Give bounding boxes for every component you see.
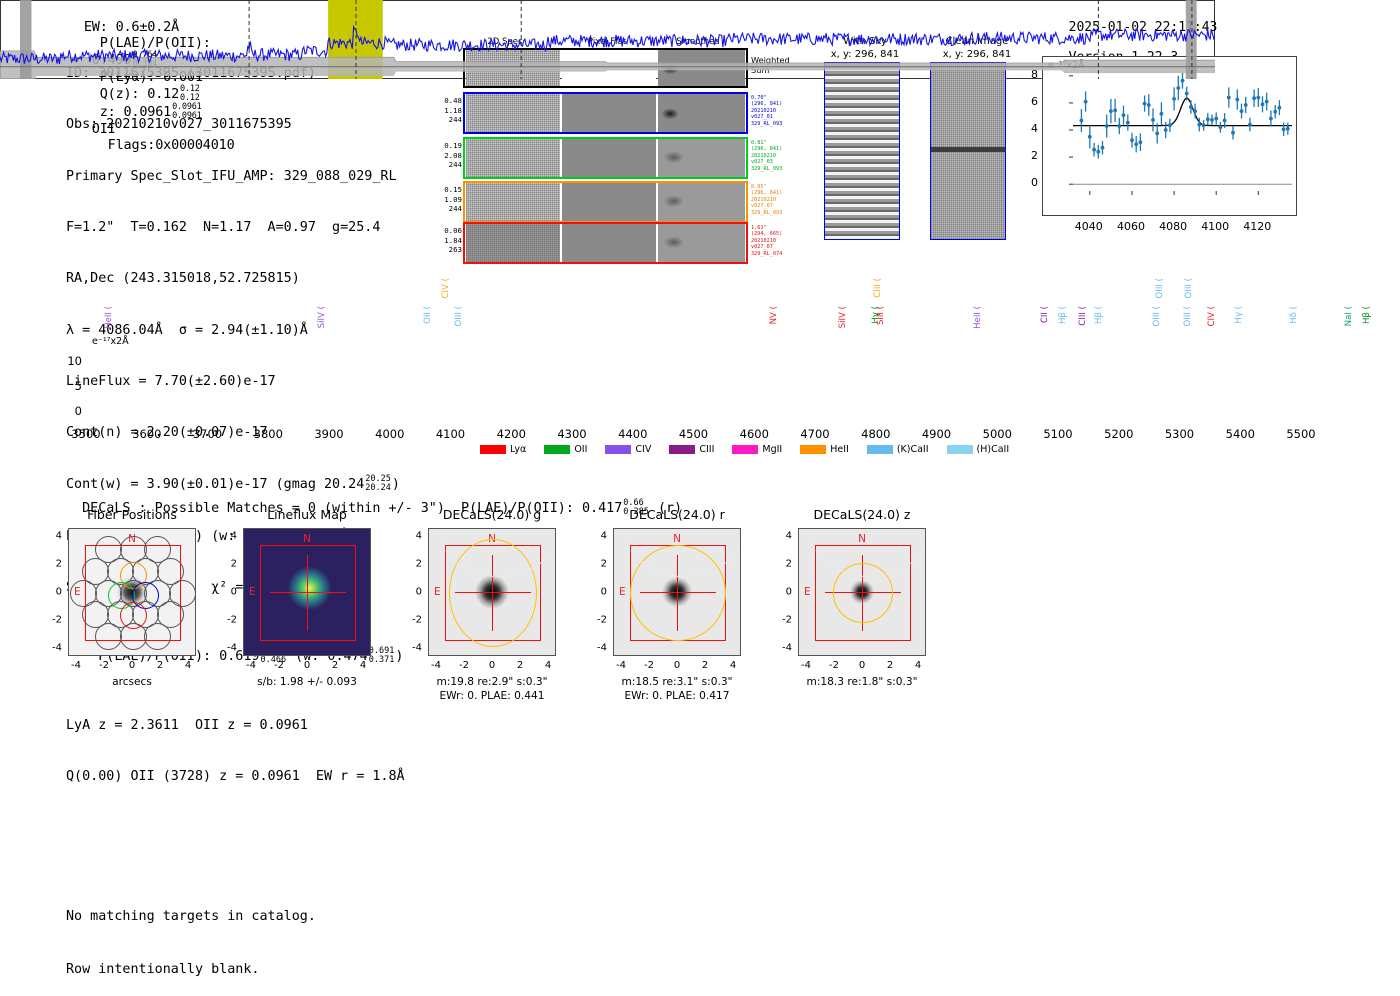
info-redshifts: LyA z = 2.3611 OII z = 0.0961 (66, 717, 405, 734)
cutout-xlabel-0: arcsecs (32, 676, 232, 688)
emission-label: Hγ ( (1234, 306, 1244, 324)
cutout-title-1: Lineflux Map (227, 507, 387, 522)
legend-swatch (544, 445, 570, 454)
legend-label: CIV (635, 444, 651, 455)
spectrum-xtick: 4700 (800, 427, 829, 441)
info-qline: Q(0.00) OII (3728) z = 0.0961 EW r = 1.8… (66, 768, 405, 785)
emission-label: HeII ( (104, 306, 114, 329)
cutout-xtick: 4 (360, 660, 366, 671)
spectrum-ytick: 0 (58, 404, 82, 418)
info-obs: Obs: 20210210v027_3011675395 (66, 116, 405, 133)
emission-label: OIII ( (1152, 306, 1162, 326)
cutout-ytick: -2 (402, 615, 422, 626)
fiber-2-meta: 0.81" (296, 841) 20210210 v027_03 329_RL… (751, 140, 782, 172)
emission-label: OII ( (423, 306, 433, 324)
info-cont-n: Cont(n) = 2.20(±0.07)e-17 (66, 424, 405, 441)
fit-ytick: 6 (1016, 95, 1038, 108)
spectrum-xtick: 4000 (375, 427, 404, 441)
fiber-1-meta: 0.70" (296, 841) 20210210 v027_01 329_RL… (751, 95, 782, 127)
cutout-title-2: DECaLS(24.0) g (412, 507, 572, 522)
fit-xtick: 4100 (1197, 220, 1233, 233)
cutout-ytick: 4 (772, 531, 792, 542)
spectrum-xtick: 4600 (740, 427, 769, 441)
emission-label: CII ( (1040, 306, 1050, 323)
crosshair-v (307, 555, 308, 631)
cutout-ytick: 2 (772, 559, 792, 570)
bottom-note-line1: No matching targets in catalog. (66, 908, 316, 926)
spectrum-ytick: 10 (58, 354, 82, 368)
cutout-xtick: -2 (459, 660, 469, 671)
cutout-ytick: 4 (217, 531, 237, 542)
fiber-2-numbers: 0.19 2.08 244 (438, 141, 462, 170)
legend-swatch (800, 445, 826, 454)
legend-entry: OII (544, 444, 587, 455)
fit-xtick: 4120 (1239, 220, 1275, 233)
legend-entry: CIII (669, 444, 714, 455)
legend-swatch (605, 445, 631, 454)
cutout-xtick: -4 (246, 660, 256, 671)
spectrum-xtick: 5200 (1104, 427, 1133, 441)
cutout-xtick: -4 (431, 660, 441, 671)
cutout-ytick: -4 (587, 643, 607, 654)
fiber-row-3 (463, 181, 748, 223)
cutout-ytick: 2 (217, 559, 237, 570)
legend-entry: (K)CaII (867, 444, 929, 455)
cutout-xtick: -2 (99, 660, 109, 671)
emission-label: Hβ ( (1058, 306, 1068, 324)
bottom-note-line2: Row intentionally blank. (66, 961, 316, 979)
emission-label: OIII ( (1183, 306, 1193, 326)
cutout-ytick: -2 (217, 615, 237, 626)
cutout-ytick: 0 (772, 587, 792, 598)
emission-label: CIV ( (441, 278, 451, 299)
cutout-image-1[interactable]: NE (243, 528, 371, 656)
cutout-xtick: -2 (829, 660, 839, 671)
emission-label: Hδ ( (1289, 306, 1299, 324)
cutout-caption1-3: m:18.5 re:3.1" s:0.3" (577, 676, 777, 688)
emission-label: OIII ( (1184, 278, 1194, 298)
legend-label: CIII (699, 444, 714, 455)
cutout-caption2-2: EWr: 0. PLAE: 0.441 (392, 690, 592, 702)
cutout-image-0[interactable]: NE (68, 528, 196, 656)
emission-label: CIII ( (1078, 306, 1088, 326)
legend-entry: HeII (800, 444, 849, 455)
spectrum-xtick: 4200 (497, 427, 526, 441)
cutout-xtick: 0 (489, 660, 495, 671)
fiber-1-numbers: 0.48 1.18 244 (438, 96, 462, 125)
cutout-ytick: 0 (587, 587, 607, 598)
spectrum-xtick: 4100 (436, 427, 465, 441)
emission-label: Hβ ( (1094, 306, 1104, 324)
fit-xtick: 4080 (1155, 220, 1191, 233)
emission-label: CIV ( (1207, 306, 1217, 327)
legend-label: OII (574, 444, 587, 455)
with-sky-image (824, 62, 900, 240)
legend-label: (K)CaII (897, 444, 929, 455)
spectrum-xtick: 5500 (1286, 427, 1315, 441)
spectrum-ytick: 5 (58, 379, 82, 393)
cutout-caption1-4: m:18.3 re:1.8" s:0.3" (762, 676, 962, 688)
line-fit-plot: e⁻¹⁷x2Å (1042, 56, 1297, 216)
emission-label: HeII ( (973, 306, 983, 329)
legend-entry: (H)CaII (947, 444, 1010, 455)
spectrum-xtick: 4300 (557, 427, 586, 441)
cutout-title-4: DECaLS(24.0) z (782, 507, 942, 522)
emission-label: Hγ ( (871, 306, 881, 324)
cutout-ytick: 0 (217, 587, 237, 598)
legend-entry: CIV (605, 444, 651, 455)
compass-e: E (434, 586, 441, 598)
cutout-red-box (85, 545, 181, 641)
cutout-ytick: 4 (42, 531, 62, 542)
spectrum-xtick: 4800 (861, 427, 890, 441)
cutout-xtick: 4 (915, 660, 921, 671)
compass-n: N (303, 533, 311, 545)
cutout-xtick: 2 (887, 660, 893, 671)
cutout-title-0: Fiber Positions (52, 507, 212, 522)
cutout-xtick: 0 (304, 660, 310, 671)
cutout-xtick: 0 (674, 660, 680, 671)
legend-label: (H)CaII (977, 444, 1010, 455)
cutout-ytick: -4 (42, 643, 62, 654)
emission-label: OIII ( (454, 306, 464, 326)
legend-swatch (480, 445, 506, 454)
spectrum-legend: LyαOIICIVCIIIMgIIHeII(K)CaII(H)CaII (480, 444, 1027, 455)
spectrum-xtick: 3900 (314, 427, 343, 441)
bottom-note: No matching targets in catalog. Row inte… (66, 873, 316, 996)
full-spectrum-plot (0, 0, 1215, 79)
fiber-3-meta: 0.95" (296, 841) 20210210 v027_07 329_RL… (751, 184, 782, 216)
info-seeing: F=1.2" T=0.162 N=1.17 A=0.97 g=25.4 (66, 219, 405, 236)
cutout-caption1-1: s/b: 1.98 +/- 0.093 (207, 676, 407, 688)
emission-label: OIII ( (1155, 278, 1165, 298)
fit-ytick: 0 (1016, 176, 1038, 189)
cutout-ytick: 4 (587, 531, 607, 542)
cutout-ytick: -4 (772, 643, 792, 654)
compass-e: E (619, 586, 626, 598)
cutout-caption2-3: EWr: 0. PLAE: 0.417 (577, 690, 777, 702)
cutout-xtick: -4 (801, 660, 811, 671)
info-radec: RA,Dec (243.315018,52.725815) (66, 270, 405, 287)
emission-label: Hβ ( (1362, 306, 1372, 324)
cutout-xtick: 2 (702, 660, 708, 671)
fiber-4-meta: 1.61" (294, 665) 20210210 v027_07 329_RL… (751, 225, 782, 257)
cutout-image-3[interactable]: NE (613, 528, 741, 656)
emission-label: NaI ( (1344, 306, 1354, 326)
emission-label: CIII ( (873, 278, 883, 298)
cutout-xtick: -4 (616, 660, 626, 671)
spectrum-xtick: 4400 (618, 427, 647, 441)
compass-e: E (804, 586, 811, 598)
fit-ytick: 4 (1016, 122, 1038, 135)
fit-xtick: 4060 (1113, 220, 1149, 233)
legend-entry: MgII (732, 444, 782, 455)
cutout-ytick: -4 (402, 643, 422, 654)
legend-swatch (669, 445, 695, 454)
cutout-xtick: 2 (332, 660, 338, 671)
cutout-xtick: 4 (730, 660, 736, 671)
legend-label: Lyα (510, 444, 526, 455)
cutout-xtick: 0 (129, 660, 135, 671)
fiber-3-numbers: 0.15 1.09 244 (438, 185, 462, 214)
cutout-xtick: 4 (545, 660, 551, 671)
cutout-xtick: 2 (157, 660, 163, 671)
cutout-title-3: DECaLS(24.0) r (597, 507, 757, 522)
cutout-xtick: -4 (71, 660, 81, 671)
cutout-ytick: 2 (587, 559, 607, 570)
info-plae-w-lo: 0.371 (369, 656, 395, 665)
emission-label: SiIV ( (317, 306, 327, 328)
cutout-xtick: -2 (274, 660, 284, 671)
cutout-ytick: -2 (772, 615, 792, 626)
spectrum-xtick: 5000 (983, 427, 1012, 441)
spectrum-xtick: 5400 (1226, 427, 1255, 441)
clean-image (930, 62, 1006, 240)
spectrum-xtick: 3500 (71, 427, 100, 441)
spectrum-xtick: 4900 (922, 427, 951, 441)
legend-label: MgII (762, 444, 782, 455)
fit-xtick: 4040 (1071, 220, 1107, 233)
cutout-xtick: -2 (644, 660, 654, 671)
legend-entry: Lyα (480, 444, 526, 455)
cutout-xtick: 0 (859, 660, 865, 671)
spectrum-xtick: 3800 (254, 427, 283, 441)
cutout-ytick: -4 (217, 643, 237, 654)
cutout-image-2[interactable]: NE (428, 528, 556, 656)
cutout-image-4[interactable]: NE (798, 528, 926, 656)
emission-label: SiIV ( (838, 306, 848, 328)
spectrum-xtick: 5300 (1165, 427, 1194, 441)
fit-ytick: 2 (1016, 149, 1038, 162)
cutout-ytick: 2 (42, 559, 62, 570)
spectrum-xtick: 5100 (1043, 427, 1072, 441)
cutout-caption1-2: m:19.8 re:2.9" s:0.3" (392, 676, 592, 688)
spectrum-xtick: 3700 (193, 427, 222, 441)
legend-label: HeII (830, 444, 849, 455)
emission-label: NV ( (769, 306, 779, 324)
cutout-ytick: 0 (402, 587, 422, 598)
info-lineflux: LineFlux = 7.70(±2.60)e-17 (66, 373, 405, 390)
fiber-row-2 (463, 137, 748, 179)
cutout-xtick: 4 (185, 660, 191, 671)
legend-swatch (867, 445, 893, 454)
spectrum-xtick: 4500 (679, 427, 708, 441)
spectrum-units-label: e⁻¹⁷x2Å (92, 336, 129, 347)
cutout-ytick: -2 (42, 615, 62, 626)
cutout-xtick: 2 (517, 660, 523, 671)
info-primary-spec: Primary Spec_Slot_IFU_AMP: 329_088_029_R… (66, 168, 405, 185)
cutout-ytick: -2 (587, 615, 607, 626)
fiber-row-1 (463, 92, 748, 134)
compass-e: E (249, 586, 256, 598)
cutout-ytick: 2 (402, 559, 422, 570)
legend-swatch (947, 445, 973, 454)
cutout-ytick: 4 (402, 531, 422, 542)
fiber-4-numbers: 0.06 1.84 263 (438, 226, 462, 255)
cutout-ytick: 0 (42, 587, 62, 598)
fiber-row-4 (463, 222, 748, 264)
legend-swatch (732, 445, 758, 454)
spectrum-xtick: 3600 (132, 427, 161, 441)
